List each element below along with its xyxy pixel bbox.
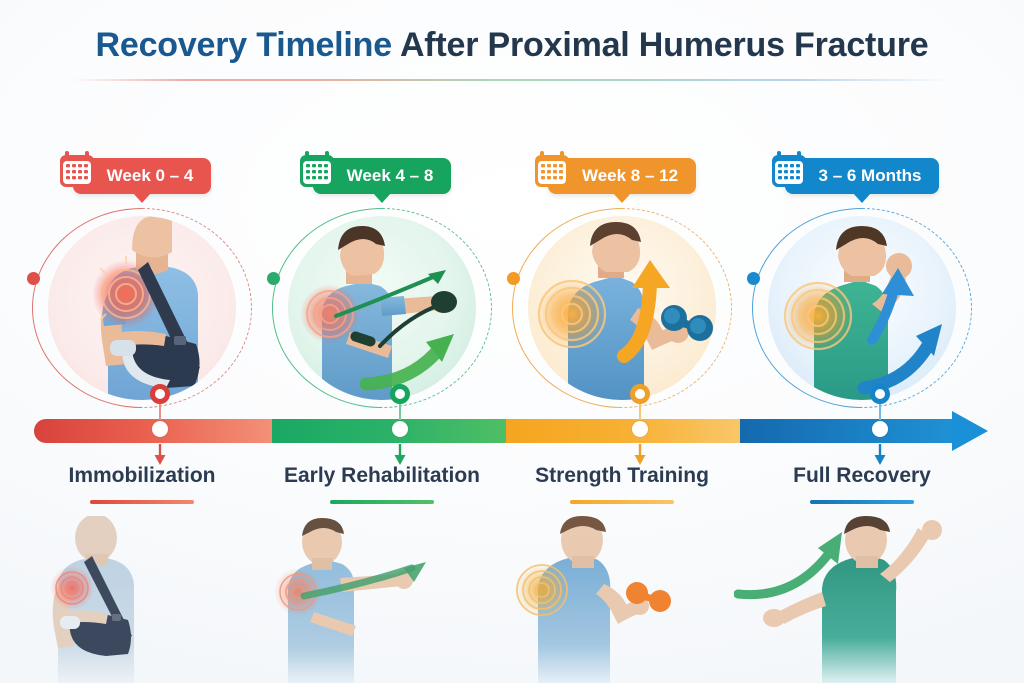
timeline-segment-strength-training[interactable] <box>506 419 746 443</box>
header: Recovery Timeline After Proximal Humerus… <box>0 26 1024 81</box>
marker-ring <box>630 384 650 404</box>
illustration-immobilization <box>48 216 236 400</box>
calendar-icon <box>769 149 815 193</box>
bottom-illustration-early-rehabilitation <box>254 516 510 683</box>
stage-caption-early-rehabilitation: Early Rehabilitation <box>254 464 510 504</box>
timeline-marker-immobilization[interactable] <box>143 384 177 420</box>
marker-ring <box>390 384 410 404</box>
caption-label: Full Recovery <box>734 464 990 488</box>
infographic-poster: Recovery Timeline After Proximal Humerus… <box>0 0 1024 683</box>
marker-stem <box>159 404 161 420</box>
timeline-marker-strength-training[interactable] <box>623 384 657 420</box>
stage-caption-strength-training: Strength Training <box>494 464 750 504</box>
marker-dot <box>872 421 888 437</box>
marker-dot <box>392 421 408 437</box>
marker-dot <box>152 421 168 437</box>
stage-badge-label: 3 – 6 Months <box>819 166 922 186</box>
timeline-marker-early-rehabilitation[interactable] <box>383 384 417 420</box>
stage-caption-immobilization: Immobilization <box>14 464 270 504</box>
stage-illustration-circle <box>272 208 492 408</box>
timeline-segment-full-recovery[interactable] <box>740 419 962 443</box>
stage-badge-label: Week 4 – 8 <box>347 166 434 186</box>
stage-badge-label: Week 0 – 4 <box>107 166 194 186</box>
orbit-dot <box>267 272 280 285</box>
title-divider <box>72 79 952 81</box>
calendar-icon <box>297 149 343 193</box>
caption-underline <box>810 500 914 504</box>
orbit-dot <box>507 272 520 285</box>
bottom-illustration-strength-training <box>494 516 750 683</box>
marker-dot <box>632 421 648 437</box>
stage-badge[interactable]: Week 0 – 4 <box>73 158 212 194</box>
stage-badge[interactable]: 3 – 6 Months <box>785 158 940 194</box>
timeline-arrow-head <box>952 411 988 451</box>
page-title-rest: After Proximal Humerus Fracture <box>392 26 929 64</box>
calendar-icon <box>57 149 103 193</box>
caption-label: Early Rehabilitation <box>254 464 510 488</box>
stage-caption-full-recovery: Full Recovery <box>734 464 990 504</box>
bottom-illustration-row <box>0 516 1024 683</box>
caption-underline <box>90 500 194 504</box>
marker-ring <box>150 384 170 404</box>
stage-badge[interactable]: Week 4 – 8 <box>313 158 452 194</box>
orbit-dot <box>27 272 40 285</box>
marker-down-arrow-icon <box>153 444 167 466</box>
illustration-full-recovery <box>768 216 956 400</box>
marker-ring <box>870 384 890 404</box>
badge-wrap: Week 4 – 8 <box>254 158 510 194</box>
badge-wrap: Week 0 – 4 <box>14 158 270 194</box>
stage-badge-label: Week 8 – 12 <box>582 166 678 186</box>
timeline-marker-full-recovery[interactable] <box>863 384 897 420</box>
marker-down-arrow-icon <box>873 444 887 466</box>
badge-wrap: Week 8 – 12 <box>494 158 750 194</box>
illustration-early-rehabilitation <box>288 216 476 400</box>
stage-badge[interactable]: Week 8 – 12 <box>548 158 696 194</box>
bottom-illustration-immobilization <box>14 516 270 683</box>
marker-stem <box>399 404 401 420</box>
orbit-dot <box>747 272 760 285</box>
stage-illustration-circle <box>512 208 732 408</box>
caption-label: Immobilization <box>14 464 270 488</box>
marker-stem <box>879 404 881 420</box>
caption-underline <box>330 500 434 504</box>
caption-underline <box>570 500 674 504</box>
stage-illustration-circle <box>752 208 972 408</box>
marker-down-arrow-icon <box>393 444 407 466</box>
stage-illustration-circle <box>32 208 252 408</box>
marker-stem <box>639 404 641 420</box>
illustration-strength-training <box>528 216 716 400</box>
marker-down-arrow-icon <box>633 444 647 466</box>
calendar-icon <box>532 149 578 193</box>
badge-wrap: 3 – 6 Months <box>734 158 990 194</box>
bottom-illustration-full-recovery <box>734 516 990 683</box>
page-title-accent: Recovery Timeline <box>96 26 392 64</box>
page-title: Recovery Timeline After Proximal Humerus… <box>0 26 1024 65</box>
caption-label: Strength Training <box>494 464 750 488</box>
